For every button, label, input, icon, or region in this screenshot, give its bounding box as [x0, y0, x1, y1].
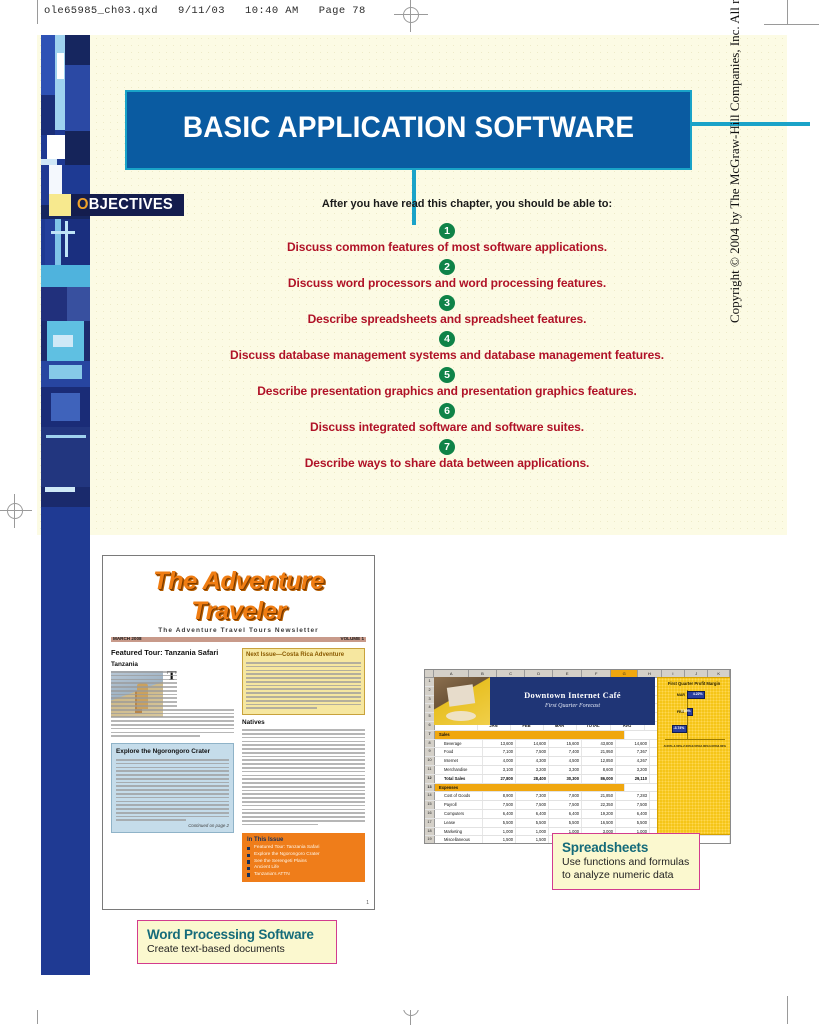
row-header[interactable]: 17 — [425, 819, 435, 827]
cell-avg[interactable]: 29,110 — [616, 775, 650, 783]
chart-bar-value-jan: -3.74% — [674, 726, 685, 730]
column-header-I[interactable]: I — [662, 670, 685, 677]
objective-text: Describe presentation graphics and prese… — [147, 384, 747, 399]
objective-number: 4 — [439, 331, 455, 347]
cell-avg[interactable]: 5,500 — [616, 819, 650, 827]
newsletter-subheading: Tanzania — [111, 661, 234, 668]
objective-number: 3 — [439, 295, 455, 311]
section-label-sales[interactable]: Sales — [435, 731, 625, 739]
chart-bar-jan[interactable]: -3.74% — [672, 725, 688, 733]
cell-mar[interactable]: 6,400 — [549, 810, 582, 818]
chart-title: First Quarter Profit Margin — [658, 681, 730, 686]
chart-plot-area: MAR 4.22% FEB 0.85% JAN -3.74% -6.00% -4… — [661, 690, 727, 748]
column-header-J[interactable]: J — [685, 670, 708, 677]
blue-sidebar-lines — [116, 759, 229, 821]
newsletter-featured-heading: Featured Tour: Tanzania Safari — [111, 648, 234, 657]
yellow-sidebar-lines — [246, 662, 361, 709]
corner-select-all[interactable] — [425, 670, 434, 677]
row-header[interactable]: 13 — [425, 784, 435, 792]
row-header[interactable]: 8 — [425, 740, 435, 748]
page-slug: ole65985_ch03.qxd 9/11/03 10:40 AM Page … — [44, 5, 366, 17]
newsletter-date: MARCH 2008 — [113, 636, 142, 641]
blue-sidebar-heading: Explore the Ngorongoro Crater — [116, 748, 229, 755]
chart-tick: -6.00% — [663, 744, 673, 748]
cell-total[interactable]: 16,500 — [582, 819, 616, 827]
objective-number: 5 — [439, 367, 455, 383]
chart-tick: -4.00% — [673, 744, 683, 748]
cell-total[interactable]: 12,850 — [582, 757, 616, 765]
column-header-A[interactable]: A — [434, 670, 469, 677]
row-label[interactable]: Beverage — [435, 740, 483, 748]
cell-feb[interactable]: 3,200 — [516, 766, 549, 774]
solid-blue-strip — [41, 535, 90, 975]
banner-rule-right — [692, 122, 810, 126]
chart-bar-feb[interactable]: 0.85% — [687, 708, 692, 716]
cell-total[interactable]: 21,950 — [582, 748, 616, 756]
cell-jan[interactable]: 3,100 — [483, 766, 516, 774]
cafe-photo — [434, 677, 490, 725]
row-header[interactable]: 11 — [425, 766, 435, 774]
cell-feb[interactable]: 6,400 — [516, 810, 549, 818]
cell-mar[interactable]: 3,300 — [549, 766, 582, 774]
cell-total[interactable]: 86,000 — [582, 775, 616, 783]
objective-item: 7 Describe ways to share data between ap… — [147, 437, 747, 471]
cell-feb[interactable]: 7,500 — [516, 801, 549, 809]
cell-mar[interactable]: 4,500 — [549, 757, 582, 765]
chart-tick: 0.00% — [692, 744, 701, 748]
caption-spreadsheets: Spreadsheets Use functions and formulas … — [552, 833, 700, 890]
row-header[interactable]: 18 — [425, 828, 435, 836]
column-header-D[interactable]: D — [525, 670, 553, 677]
cell-feb[interactable]: 5,500 — [516, 819, 549, 827]
caption-body: Create text-based documents — [147, 943, 327, 956]
textbook-page: BASIC APPLICATION SOFTWARE OBJECTIVES Af… — [37, 35, 787, 1010]
row-header[interactable]: 15 — [425, 801, 435, 809]
sheet-subtitle: First Quarter Forecast — [494, 703, 651, 709]
row-header[interactable]: 14 — [425, 792, 435, 800]
cell-feb[interactable]: 28,400 — [516, 775, 549, 783]
chart-x-axis — [665, 739, 725, 740]
newsletter-masthead: The Adventure Traveler — [108, 566, 368, 626]
chart-category-label-mar: MAR — [677, 693, 685, 697]
issue-list-item: Ancient Life — [247, 865, 360, 872]
cell-jan[interactable]: 8,900 — [483, 792, 516, 800]
caption-word-processing: Word Processing Software Create text-bas… — [137, 920, 337, 964]
objectives-label: OBJECTIVES — [77, 196, 173, 214]
objectives-intro: After you have read this chapter, you sh… — [187, 198, 747, 210]
cell-avg[interactable]: 7,367 — [616, 748, 650, 756]
cell-mar[interactable]: 7,500 — [549, 801, 582, 809]
cell-feb[interactable]: 1,000 — [516, 828, 549, 836]
tech-circuit-image — [41, 35, 90, 535]
row-label[interactable]: Food — [435, 748, 483, 756]
cell-feb[interactable]: 14,600 — [516, 740, 549, 748]
cell-jan[interactable]: 7,500 — [483, 801, 516, 809]
column-header-F[interactable]: F — [582, 670, 611, 677]
continued-note: Continued on page 2 — [116, 823, 229, 828]
row-header[interactable]: 10 — [425, 757, 435, 765]
chart-bar-value-feb: 0.85% — [681, 709, 691, 713]
row-header[interactable]: 12 — [425, 775, 435, 783]
right-column-lines — [242, 729, 365, 825]
objective-item: 6 Discuss integrated software and softwa… — [147, 401, 747, 435]
newsletter-right-column: Next Issue—Costa Rica Adventure Natives … — [242, 648, 365, 882]
row-label[interactable]: Lease — [435, 819, 483, 827]
cell-avg[interactable]: 7,500 — [616, 801, 650, 809]
trim-line-right-bottom — [787, 996, 788, 1024]
row-label[interactable]: Cost of Goods — [435, 792, 483, 800]
objective-text: Discuss database management systems and … — [147, 348, 747, 363]
objective-item: 4 Discuss database management systems an… — [147, 329, 747, 363]
row-label[interactable]: Marketing — [435, 828, 483, 836]
column-header-C[interactable]: C — [497, 670, 525, 677]
copyright-notice: Copyright © 2004 by The McGraw-Hill Comp… — [727, 0, 743, 323]
objective-text: Discuss common features of most software… — [147, 240, 747, 255]
cell-jan[interactable]: 4,000 — [483, 757, 516, 765]
chapter-title-banner: BASIC APPLICATION SOFTWARE — [125, 90, 692, 170]
cell-total[interactable]: 22,350 — [582, 801, 616, 809]
caption-title: Word Processing Software — [147, 927, 327, 942]
cell-jan[interactable]: 27,800 — [483, 775, 516, 783]
trim-line-right — [787, 0, 788, 24]
chart-tick: 4.00% — [709, 744, 718, 748]
cell-total[interactable]: 8,600 — [582, 766, 616, 774]
cell-feb[interactable]: 7,500 — [516, 748, 549, 756]
row-header[interactable]: 16 — [425, 810, 435, 818]
cell-jan[interactable]: 7,100 — [483, 748, 516, 756]
chart-x-tick-labels: -6.00% -4.00% -2.00% 0.00% 2.00% 4.00% 6… — [663, 744, 726, 748]
issue-list-item: Featured Tour: Tanzania Safari — [247, 845, 360, 852]
newsletter-body-left: T — [111, 671, 234, 737]
objectives-list: 1 Discuss common features of most softwa… — [147, 221, 747, 473]
row-label[interactable]: Miscellaneous — [435, 836, 483, 844]
objectives-label-rest: BJECTIVES — [89, 196, 173, 213]
cell-feb[interactable]: 4,300 — [516, 757, 549, 765]
registration-mark-left — [0, 494, 32, 528]
objective-number: 7 — [439, 439, 455, 455]
chart-tick: -2.00% — [682, 744, 692, 748]
newsletter-yellow-sidebar: Next Issue—Costa Rica Adventure — [242, 648, 365, 715]
sheet-title: Downtown Internet Café — [494, 690, 651, 700]
trim-line-top-right — [764, 24, 819, 25]
word-processing-screenshot: The Adventure Traveler The Adventure Tra… — [102, 555, 375, 910]
cell-jan[interactable]: 1,500 — [483, 836, 516, 844]
row-label[interactable]: Payroll — [435, 801, 483, 809]
issue-list-item: Explore the Ngorongoro Crater — [247, 852, 360, 859]
column-header-B[interactable]: B — [469, 670, 497, 677]
profit-margin-chart[interactable]: First Quarter Profit Margin MAR 4.22% FE… — [657, 677, 731, 835]
spreadsheet-screenshot: A B C D E F G H I J K 1 2 3 4 5 6 JAN FE… — [424, 669, 731, 844]
row-label[interactable]: Internet — [435, 757, 483, 765]
objective-text: Describe spreadsheets and spreadsheet fe… — [147, 312, 747, 327]
caption-title: Spreadsheets — [562, 840, 690, 855]
cell-avg[interactable]: 4,267 — [616, 757, 650, 765]
column-header-G[interactable]: G — [611, 670, 638, 677]
cell-feb[interactable]: 1,500 — [516, 836, 549, 844]
objective-item: 5 Describe presentation graphics and pre… — [147, 365, 747, 399]
section-label-expenses[interactable]: Expenses — [435, 784, 625, 792]
chart-bar-value-mar: 4.22% — [693, 692, 703, 696]
issue-list-item: Tanzania's ATTN — [247, 872, 360, 879]
objectives-tab: OBJECTIVES — [71, 194, 184, 216]
caption-body: Use functions and formulas to analyze nu… — [562, 856, 690, 882]
cell-jan[interactable]: 5,500 — [483, 819, 516, 827]
cell-avg[interactable]: 3,200 — [616, 766, 650, 774]
in-this-issue-box: In This Issue Featured Tour: Tanzania Sa… — [242, 833, 365, 882]
chart-tick: 2.00% — [700, 744, 709, 748]
chart-tick: 6.00% — [717, 744, 726, 748]
newsletter-page-number: 1 — [366, 900, 369, 906]
trim-line-left — [37, 0, 38, 24]
newsletter-subheading-2: Natives — [242, 719, 365, 726]
cell-jan[interactable]: 6,400 — [483, 810, 516, 818]
cell-mar[interactable]: 15,600 — [549, 740, 582, 748]
objective-text: Describe ways to share data between appl… — [147, 456, 747, 471]
objective-item: 2 Discuss word processors and word proce… — [147, 257, 747, 291]
row-header[interactable]: 7 — [425, 731, 435, 739]
row-label[interactable]: Merchandise — [435, 766, 483, 774]
objectives-label-initial: O — [77, 196, 89, 213]
objective-text: Discuss integrated software and software… — [147, 420, 747, 435]
sheet-title-graphic: Downtown Internet Café First Quarter For… — [434, 677, 655, 725]
cell-mar[interactable]: 5,500 — [549, 819, 582, 827]
in-this-issue-title: In This Issue — [247, 837, 360, 843]
cell-total[interactable]: 21,850 — [582, 792, 616, 800]
decorative-tech-strip — [41, 35, 90, 975]
cell-mar[interactable]: 7,400 — [549, 748, 582, 756]
objective-item: 3 Describe spreadsheets and spreadsheet … — [147, 293, 747, 327]
objective-number: 6 — [439, 403, 455, 419]
cell-jan[interactable]: 13,600 — [483, 740, 516, 748]
row-header[interactable]: 19 — [425, 836, 435, 844]
column-header-E[interactable]: E — [553, 670, 582, 677]
column-header-H[interactable]: H — [638, 670, 661, 677]
cell-jan[interactable]: 1,000 — [483, 828, 516, 836]
row-header[interactable]: 9 — [425, 748, 435, 756]
objective-text: Discuss word processors and word process… — [147, 276, 747, 291]
cell-avg[interactable]: 14,600 — [616, 740, 650, 748]
newsletter-blue-sidebar: Explore the Ngorongoro Crater Continued … — [111, 743, 234, 833]
chart-bar-mar[interactable]: 4.22% — [687, 691, 704, 699]
row-label[interactable]: Total Sales — [435, 775, 483, 783]
newsletter-volume: VOLUME 1 — [341, 636, 364, 641]
objective-number: 1 — [439, 223, 455, 239]
cell-avg[interactable]: 6,400 — [616, 810, 650, 818]
newsletter-date-rule: MARCH 2008 VOLUME 1 — [111, 637, 366, 642]
newsletter-subtitle: The Adventure Travel Tours Newsletter — [111, 627, 366, 634]
cell-total[interactable]: 43,800 — [582, 740, 616, 748]
objective-item: 1 Discuss common features of most softwa… — [147, 221, 747, 255]
registration-mark-top — [394, 0, 428, 32]
column-header-K[interactable]: K — [708, 670, 730, 677]
cell-feb[interactable]: 7,300 — [516, 792, 549, 800]
newsletter-left-column: Featured Tour: Tanzania Safari Tanzania … — [111, 648, 234, 882]
cell-avg[interactable]: 7,283 — [616, 792, 650, 800]
page-title: BASIC APPLICATION SOFTWARE — [147, 111, 671, 145]
cell-mar[interactable]: 7,800 — [549, 792, 582, 800]
objective-number: 2 — [439, 259, 455, 275]
cell-mar[interactable]: 30,300 — [549, 775, 582, 783]
yellow-sidebar-heading: Next Issue—Costa Rica Adventure — [246, 652, 361, 658]
row-label[interactable]: Computers — [435, 810, 483, 818]
cell-total[interactable]: 19,200 — [582, 810, 616, 818]
